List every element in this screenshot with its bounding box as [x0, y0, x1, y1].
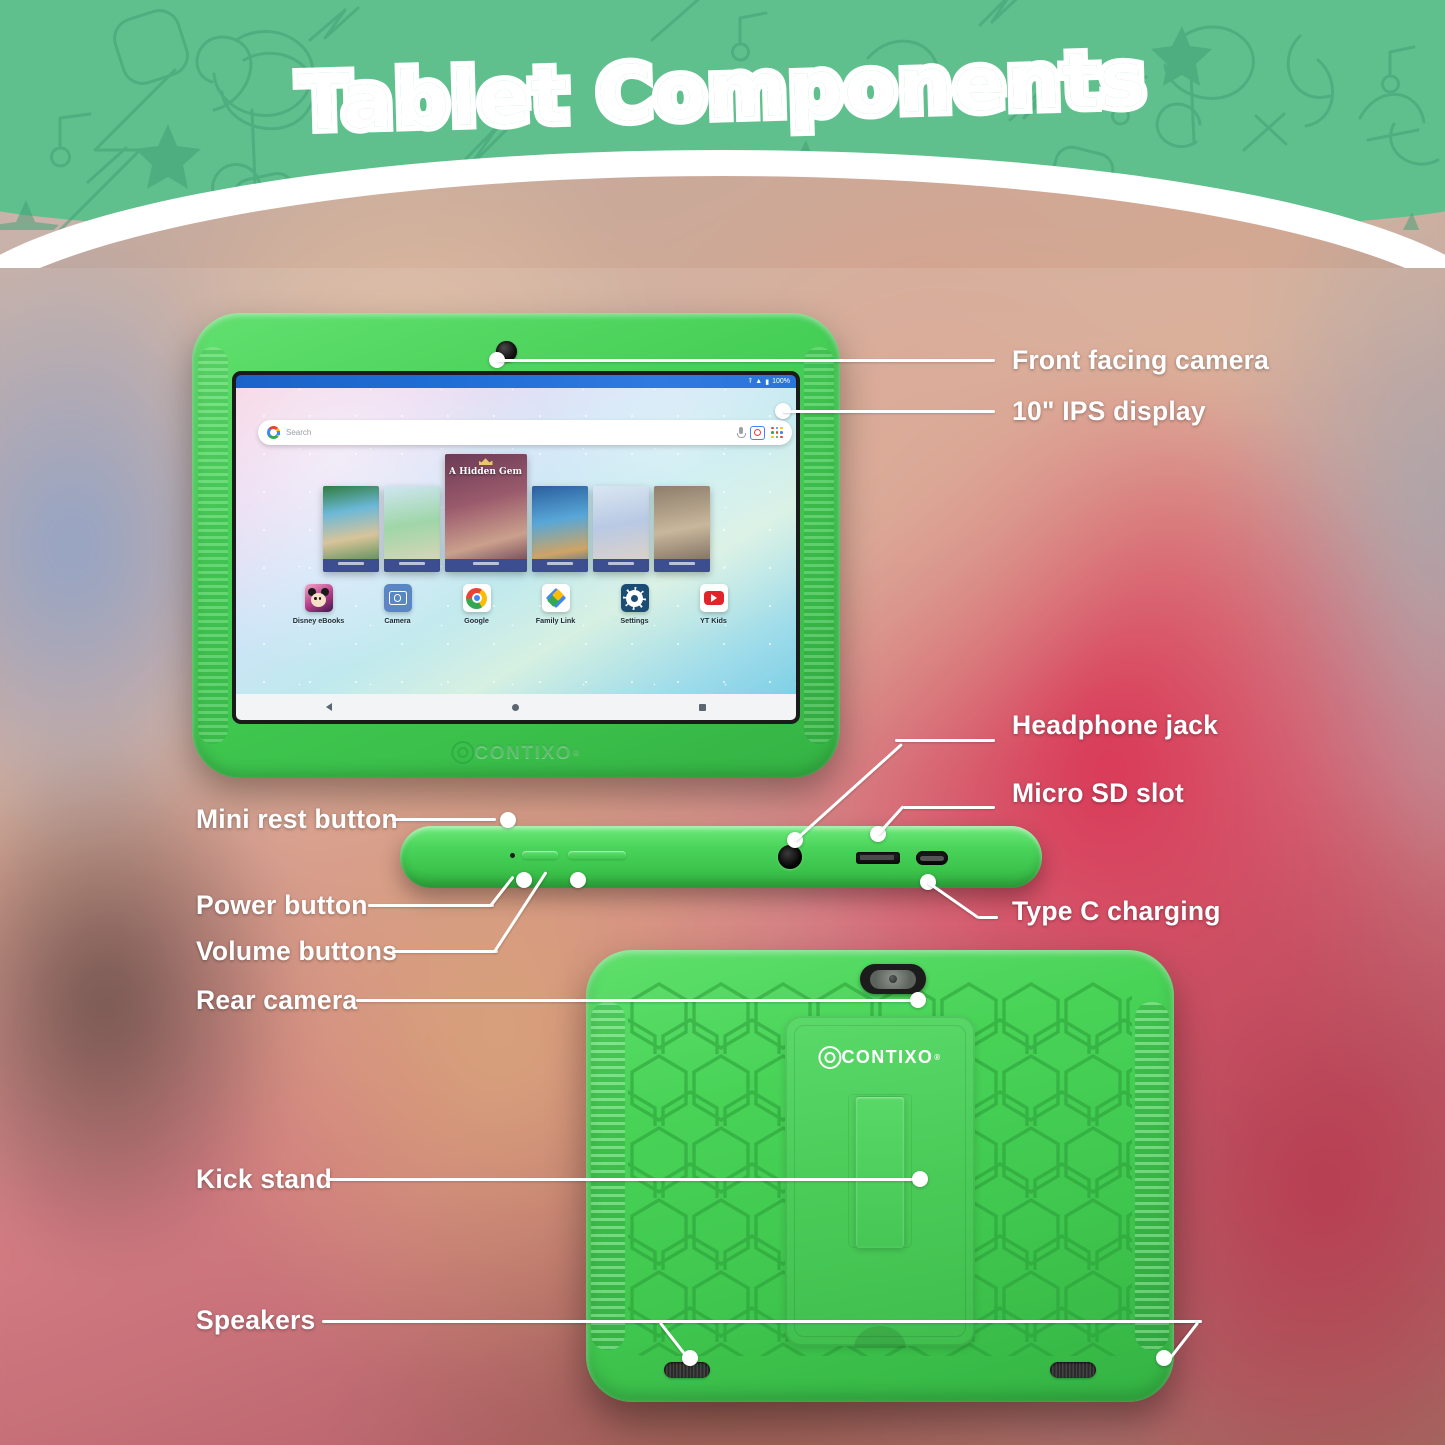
book-cover[interactable]	[384, 486, 440, 572]
callout-dot-volume	[570, 872, 586, 888]
callout-label-volume: Volume buttons	[196, 936, 397, 967]
app-label: Camera	[384, 616, 410, 625]
header-photo-window	[0, 176, 1445, 268]
android-status-bar: ⍒ ▲ ▮ 100%	[236, 375, 796, 388]
tablet-side-view	[400, 826, 1042, 888]
callout-label-ips-display: 10" IPS display	[1012, 396, 1206, 427]
contixo-o-mark	[451, 741, 474, 764]
google-lens-icon[interactable]	[750, 426, 765, 440]
registered-mark: ®	[934, 1053, 941, 1062]
app-settings[interactable]: Settings	[612, 584, 658, 625]
app-google[interactable]: Google	[454, 584, 500, 625]
app-family-link[interactable]: Family Link	[533, 584, 579, 625]
gear-icon	[621, 584, 649, 612]
speaker-grille-right	[1050, 1362, 1096, 1378]
app-label: Settings	[620, 616, 648, 625]
callout-dot-speaker-right	[1156, 1350, 1172, 1366]
case-ribbed-edge-right	[1135, 1002, 1169, 1350]
app-label: YT Kids	[700, 616, 727, 625]
android-nav-bar[interactable]	[236, 694, 796, 720]
book-cover[interactable]	[323, 486, 379, 572]
callout-label-type-c: Type C charging	[1012, 896, 1221, 927]
featured-book-title: A Hidden Gem	[449, 468, 523, 478]
contixo-o-mark	[818, 1046, 841, 1069]
tablet-screen[interactable]: ⍒ ▲ ▮ 100% Search	[236, 375, 796, 720]
crown-icon	[479, 458, 493, 465]
app-yt-kids[interactable]: YT Kids	[691, 584, 737, 625]
book-cover-hero[interactable]: A Hidden Gem	[445, 454, 527, 572]
case-ribbed-edge-left	[198, 347, 228, 744]
app-disney-ebooks[interactable]: Disney eBooks	[296, 584, 342, 625]
callout-label-speakers: Speakers	[196, 1305, 315, 1336]
callout-line-micro-sd	[903, 806, 995, 809]
callout-line-rear-camera	[356, 999, 916, 1002]
callout-line-front-camera	[497, 359, 995, 362]
volume-rocker[interactable]	[568, 851, 626, 859]
callout-line-ips-display	[783, 410, 995, 413]
contixo-logo-front: CONTIXO®	[451, 741, 580, 764]
infographic-canvas: Tablet Components Tablet Components ⍒ ▲ …	[0, 0, 1445, 1445]
google-logo-icon	[267, 426, 280, 439]
callout-line-power	[368, 904, 494, 907]
callout-label-mini-rest: Mini rest button	[196, 804, 398, 835]
family-link-icon	[542, 584, 570, 612]
callout-dot-mini-rest	[500, 812, 516, 828]
bluetooth-icon: ⍒	[748, 378, 752, 386]
callout-line-headphone-jack	[895, 739, 995, 742]
microphone-icon[interactable]	[737, 427, 744, 438]
callout-dot-rear-camera	[910, 992, 926, 1008]
callout-label-rear-camera: Rear camera	[196, 985, 357, 1016]
recents-icon[interactable]	[699, 704, 706, 711]
callout-label-kick-stand: Kick stand	[196, 1164, 332, 1195]
home-icon[interactable]	[512, 704, 519, 711]
tablet-back-view: CONTIXO®	[586, 950, 1174, 1402]
app-label: Google	[464, 616, 489, 625]
back-icon[interactable]	[326, 703, 332, 711]
callout-line-speakers	[322, 1320, 1202, 1323]
registered-mark: ®	[573, 748, 581, 757]
kickstand-panel: CONTIXO®	[785, 1016, 975, 1346]
app-camera[interactable]: Camera	[375, 584, 421, 625]
usb-c-port	[916, 851, 948, 865]
disney-mickey-icon	[305, 584, 333, 612]
book-carousel[interactable]: A Hidden Gem	[236, 454, 796, 572]
power-button[interactable]	[522, 851, 558, 859]
app-dock: Disney eBooks Camera Google Family Link	[236, 584, 796, 625]
callout-line-volume	[392, 950, 498, 953]
callout-line-kick-stand	[326, 1178, 918, 1181]
book-cover[interactable]	[593, 486, 649, 572]
callout-label-micro-sd: Micro SD slot	[1012, 778, 1184, 809]
callout-label-front-camera: Front facing camera	[1012, 345, 1269, 376]
book-cover[interactable]	[654, 486, 710, 572]
callout-line-type-c	[978, 916, 998, 919]
home-wallpaper: Search A Hidden Gem	[236, 388, 796, 694]
search-placeholder: Search	[286, 428, 731, 437]
app-label: Family Link	[536, 616, 576, 625]
headphone-jack-port	[778, 845, 802, 869]
callout-dot-power	[516, 872, 532, 888]
callout-dot-kick-stand	[912, 1171, 928, 1187]
header-banner: Tablet Components Tablet Components	[0, 0, 1445, 268]
callout-line-mini-rest	[392, 818, 496, 821]
case-ribbed-edge-right	[804, 347, 834, 744]
micro-sd-slot-port	[856, 852, 900, 864]
rear-camera-module	[860, 964, 926, 994]
contixo-wordmark: CONTIXO	[841, 1047, 933, 1068]
kickstand[interactable]	[855, 1096, 905, 1248]
contixo-logo-back: CONTIXO®	[818, 1046, 941, 1069]
battery-icon: ▮	[765, 378, 769, 386]
reset-pinhole	[510, 853, 515, 858]
apps-grid-icon[interactable]	[771, 427, 783, 439]
youtube-kids-icon	[700, 584, 728, 612]
callout-dot-speaker-left	[682, 1350, 698, 1366]
book-cover[interactable]	[532, 486, 588, 572]
callout-label-headphone-jack: Headphone jack	[1012, 710, 1218, 741]
google-search-bar[interactable]: Search	[258, 420, 792, 445]
tablet-front-view: ⍒ ▲ ▮ 100% Search	[192, 313, 840, 778]
battery-percent: 100%	[772, 378, 790, 385]
contixo-wordmark: CONTIXO	[474, 742, 572, 764]
wifi-icon: ▲	[755, 378, 762, 385]
camera-icon	[384, 584, 412, 612]
chrome-icon	[463, 584, 491, 612]
app-label: Disney eBooks	[293, 616, 345, 625]
case-ribbed-edge-left	[591, 1002, 625, 1350]
callout-label-power: Power button	[196, 890, 368, 921]
